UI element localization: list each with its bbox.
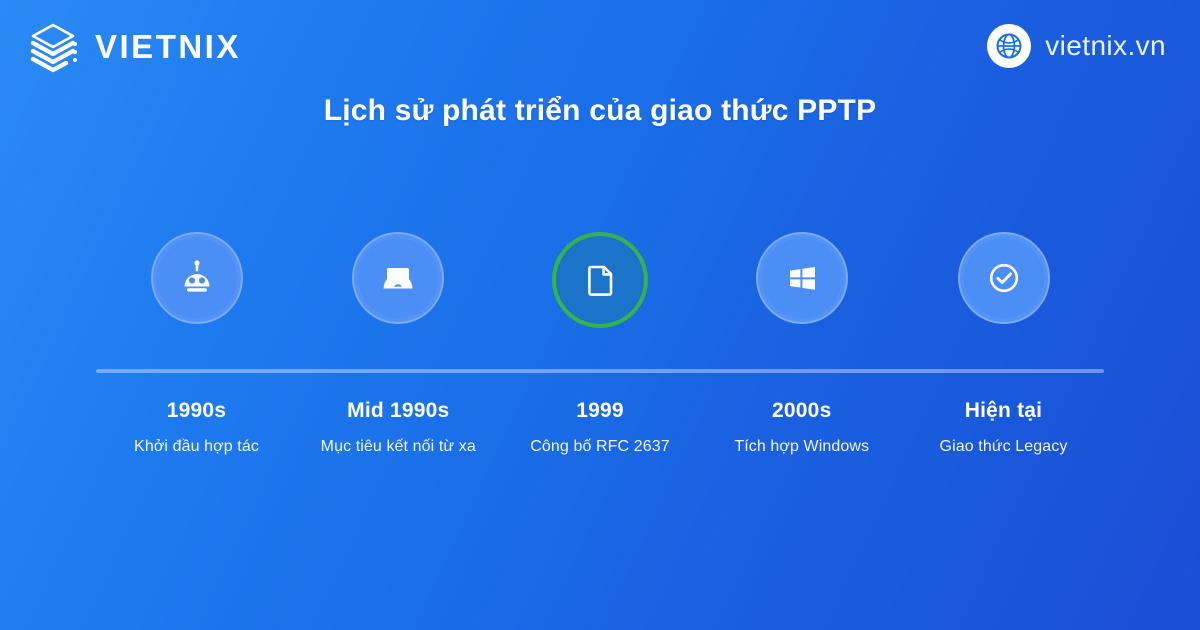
timeline-node-1-circle[interactable] [151,232,243,324]
timeline-node-5[interactable] [903,232,1104,324]
timeline-label-3: 1999 Công bố RFC 2637 [500,400,701,457]
document-icon [580,260,620,300]
timeline-year-2: Mid 1990s [298,400,499,421]
timeline-node-3-circle[interactable] [552,232,648,328]
check-circle-icon [983,257,1025,299]
page-title: Lịch sử phát triển của giao thức PPTP [0,94,1200,128]
windows-logo-icon [781,257,823,299]
timeline-label-2: Mid 1990s Mục tiêu kết nối từ xa [298,400,499,457]
timeline-label-5: Hiện tại Giao thức Legacy [903,400,1104,457]
timeline-node-3[interactable] [500,232,701,328]
timeline-year-5: Hiện tại [903,400,1104,421]
timeline-desc-3: Công bố RFC 2637 [500,437,701,457]
timeline-node-1[interactable] [96,232,297,324]
timeline-year-4: 2000s [701,400,902,421]
timeline-desc-5: Giao thức Legacy [903,437,1104,457]
timeline: 1990s Khởi đầu hợp tác Mid 1990s Mục tiê… [96,232,1104,328]
brand-name: VIETNIX [95,30,241,63]
site-url-text: vietnix.vn [1045,32,1166,60]
robot-icon [176,257,218,299]
timeline-desc-4: Tích hợp Windows [701,437,902,457]
globe-icon [987,24,1031,68]
timeline-node-2-circle[interactable] [352,232,444,324]
timeline-node-2[interactable] [298,232,499,324]
infographic-canvas: VIETNIX vietnix.vn Lịch sử phát triển củ… [0,0,1200,630]
timeline-year-1: 1990s [96,400,297,421]
stacked-layers-icon [26,19,80,73]
site-url-group[interactable]: vietnix.vn [987,24,1166,68]
timeline-labels: 1990s Khởi đầu hợp tác Mid 1990s Mục tiê… [96,400,1104,457]
laptop-icon [377,257,419,299]
timeline-node-4[interactable] [701,232,902,324]
timeline-nodes [96,232,1104,328]
timeline-rail [96,369,1104,373]
brand-logo: VIETNIX [26,19,241,73]
header: VIETNIX vietnix.vn [0,0,1200,92]
timeline-year-3: 1999 [500,400,701,421]
timeline-desc-2: Mục tiêu kết nối từ xa [298,437,499,457]
timeline-desc-1: Khởi đầu hợp tác [96,437,297,457]
timeline-node-5-circle[interactable] [958,232,1050,324]
timeline-label-4: 2000s Tích hợp Windows [701,400,902,457]
timeline-node-4-circle[interactable] [756,232,848,324]
timeline-label-1: 1990s Khởi đầu hợp tác [96,400,297,457]
